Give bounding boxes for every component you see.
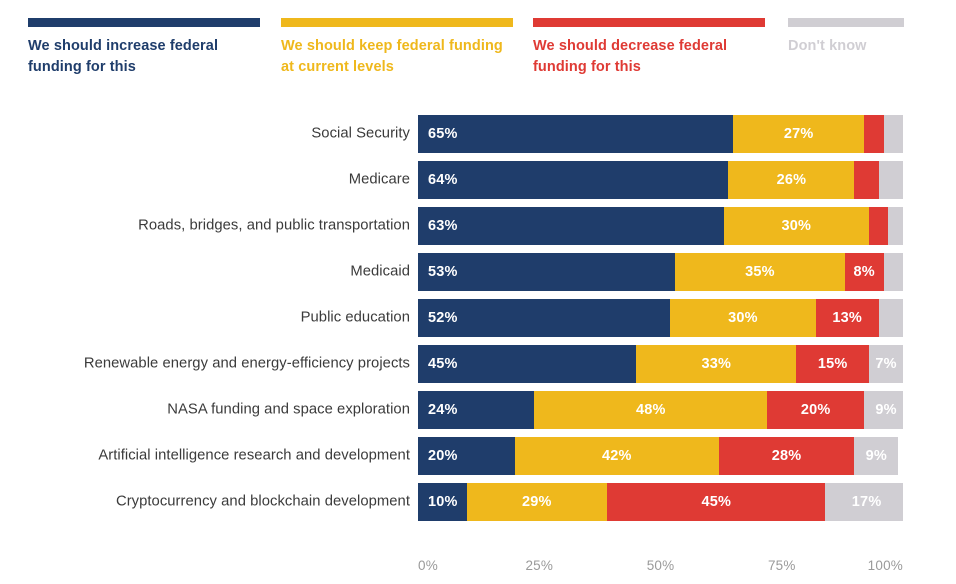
bar-segment-decrease[interactable] [869, 207, 888, 245]
bar-segment-dont-know[interactable] [879, 161, 903, 199]
bar-segment-decrease[interactable]: 13% [816, 299, 879, 337]
x-axis-tick: 75% [768, 558, 796, 573]
bar-segment-keep[interactable]: 42% [515, 437, 719, 475]
bar-segment-dont-know[interactable] [884, 115, 903, 153]
bar-segment-value: 24% [428, 402, 458, 418]
chart-row: Artificial intelligence research and dev… [0, 437, 956, 475]
bar-segment-value: 27% [784, 126, 814, 142]
bar-segment-keep[interactable]: 35% [675, 253, 845, 291]
stacked-bar[interactable]: 53%35%8% [418, 253, 903, 291]
bar-segment-increase[interactable]: 53% [418, 253, 675, 291]
bar-segment-value: 30% [728, 310, 758, 326]
chart-row: NASA funding and space exploration24%48%… [0, 391, 956, 429]
bar-segment-value: 45% [701, 494, 731, 510]
chart-row: Social Security65%27% [0, 115, 956, 153]
bar-segment-decrease[interactable]: 8% [845, 253, 884, 291]
stacked-bar[interactable]: 20%42%28%9% [418, 437, 903, 475]
category-label: Roads, bridges, and public transportatio… [30, 217, 410, 236]
bar-segment-decrease[interactable]: 15% [796, 345, 869, 383]
x-axis-tick: 25% [525, 558, 553, 573]
bar-segment-value: 29% [522, 494, 552, 510]
bar-segment-value: 63% [428, 218, 458, 234]
bar-segment-value: 28% [772, 448, 802, 464]
bar-segment-decrease[interactable] [864, 115, 883, 153]
bar-segment-value: 9% [866, 448, 887, 464]
bar-segment-dont-know[interactable]: 9% [864, 391, 903, 429]
bar-segment-keep[interactable]: 29% [467, 483, 608, 521]
chart-row: Roads, bridges, and public transportatio… [0, 207, 956, 245]
bar-segment-decrease[interactable]: 45% [607, 483, 825, 521]
x-axis: 0%25%50%75%100% [418, 558, 903, 580]
bar-segment-value: 42% [602, 448, 632, 464]
bar-segment-value: 45% [428, 356, 458, 372]
bar-segment-value: 10% [428, 494, 458, 510]
bar-segment-keep[interactable]: 30% [670, 299, 816, 337]
bar-segment-increase[interactable]: 45% [418, 345, 636, 383]
bar-segment-keep[interactable]: 26% [728, 161, 854, 199]
bar-segment-decrease[interactable] [854, 161, 878, 199]
bar-segment-value: 30% [781, 218, 811, 234]
x-axis-tick: 100% [868, 558, 903, 573]
bar-segment-value: 7% [875, 356, 896, 372]
category-label: Artificial intelligence research and dev… [30, 447, 410, 466]
bar-segment-increase[interactable]: 65% [418, 115, 733, 153]
chart-row: Cryptocurrency and blockchain developmen… [0, 483, 956, 521]
chart-row: Medicare64%26% [0, 161, 956, 199]
category-label: Social Security [30, 125, 410, 144]
bar-segment-value: 13% [832, 310, 862, 326]
chart-row: Renewable energy and energy-efficiency p… [0, 345, 956, 383]
bar-segment-value: 20% [428, 448, 458, 464]
stacked-bar[interactable]: 52%30%13% [418, 299, 903, 337]
category-label: Cryptocurrency and blockchain developmen… [30, 493, 410, 512]
bar-segment-dont-know[interactable] [879, 299, 903, 337]
bar-segment-value: 26% [777, 172, 807, 188]
bar-segment-keep[interactable]: 27% [733, 115, 864, 153]
bar-segment-value: 9% [875, 402, 896, 418]
bar-segment-increase[interactable]: 52% [418, 299, 670, 337]
bar-segment-value: 52% [428, 310, 458, 326]
bar-segment-increase[interactable]: 63% [418, 207, 724, 245]
bar-segment-increase[interactable]: 20% [418, 437, 515, 475]
stacked-bar[interactable]: 24%48%20%9% [418, 391, 903, 429]
bar-segment-value: 8% [854, 264, 875, 280]
stacked-bar[interactable]: 64%26% [418, 161, 903, 199]
chart-row: Medicaid53%35%8% [0, 253, 956, 291]
plot-area: Social Security65%27%Medicare64%26%Roads… [0, 0, 956, 584]
category-label: Renewable energy and energy-efficiency p… [30, 355, 410, 374]
bar-segment-value: 17% [852, 494, 882, 510]
bar-segment-keep[interactable]: 33% [636, 345, 796, 383]
category-label: Public education [30, 309, 410, 328]
x-axis-tick: 0% [418, 558, 438, 573]
bar-segment-value: 64% [428, 172, 458, 188]
bar-segment-value: 33% [701, 356, 731, 372]
bar-segment-increase[interactable]: 24% [418, 391, 534, 429]
category-label: Medicare [30, 171, 410, 190]
bar-segment-dont-know[interactable]: 7% [869, 345, 903, 383]
bar-segment-dont-know[interactable] [888, 207, 903, 245]
bar-segment-decrease[interactable]: 28% [719, 437, 855, 475]
bar-segment-value: 20% [801, 402, 831, 418]
stacked-bar-chart: We should increase federal funding for t… [0, 0, 956, 584]
bar-segment-keep[interactable]: 48% [534, 391, 767, 429]
category-label: Medicaid [30, 263, 410, 282]
chart-row: Public education52%30%13% [0, 299, 956, 337]
stacked-bar[interactable]: 45%33%15%7% [418, 345, 903, 383]
bar-segment-increase[interactable]: 10% [418, 483, 467, 521]
stacked-bar[interactable]: 10%29%45%17% [418, 483, 903, 521]
bar-segment-dont-know[interactable] [884, 253, 903, 291]
bar-segment-increase[interactable]: 64% [418, 161, 728, 199]
stacked-bar[interactable]: 65%27% [418, 115, 903, 153]
x-axis-tick: 50% [647, 558, 675, 573]
bar-segment-value: 48% [636, 402, 666, 418]
bar-segment-value: 15% [818, 356, 848, 372]
bar-segment-value: 65% [428, 126, 458, 142]
bar-segment-value: 53% [428, 264, 458, 280]
bar-segment-decrease[interactable]: 20% [767, 391, 864, 429]
bar-segment-keep[interactable]: 30% [724, 207, 870, 245]
bar-segment-dont-know[interactable]: 9% [854, 437, 898, 475]
bar-segment-dont-know[interactable]: 17% [825, 483, 903, 521]
category-label: NASA funding and space exploration [30, 401, 410, 420]
bar-segment-value: 35% [745, 264, 775, 280]
stacked-bar[interactable]: 63%30% [418, 207, 903, 245]
